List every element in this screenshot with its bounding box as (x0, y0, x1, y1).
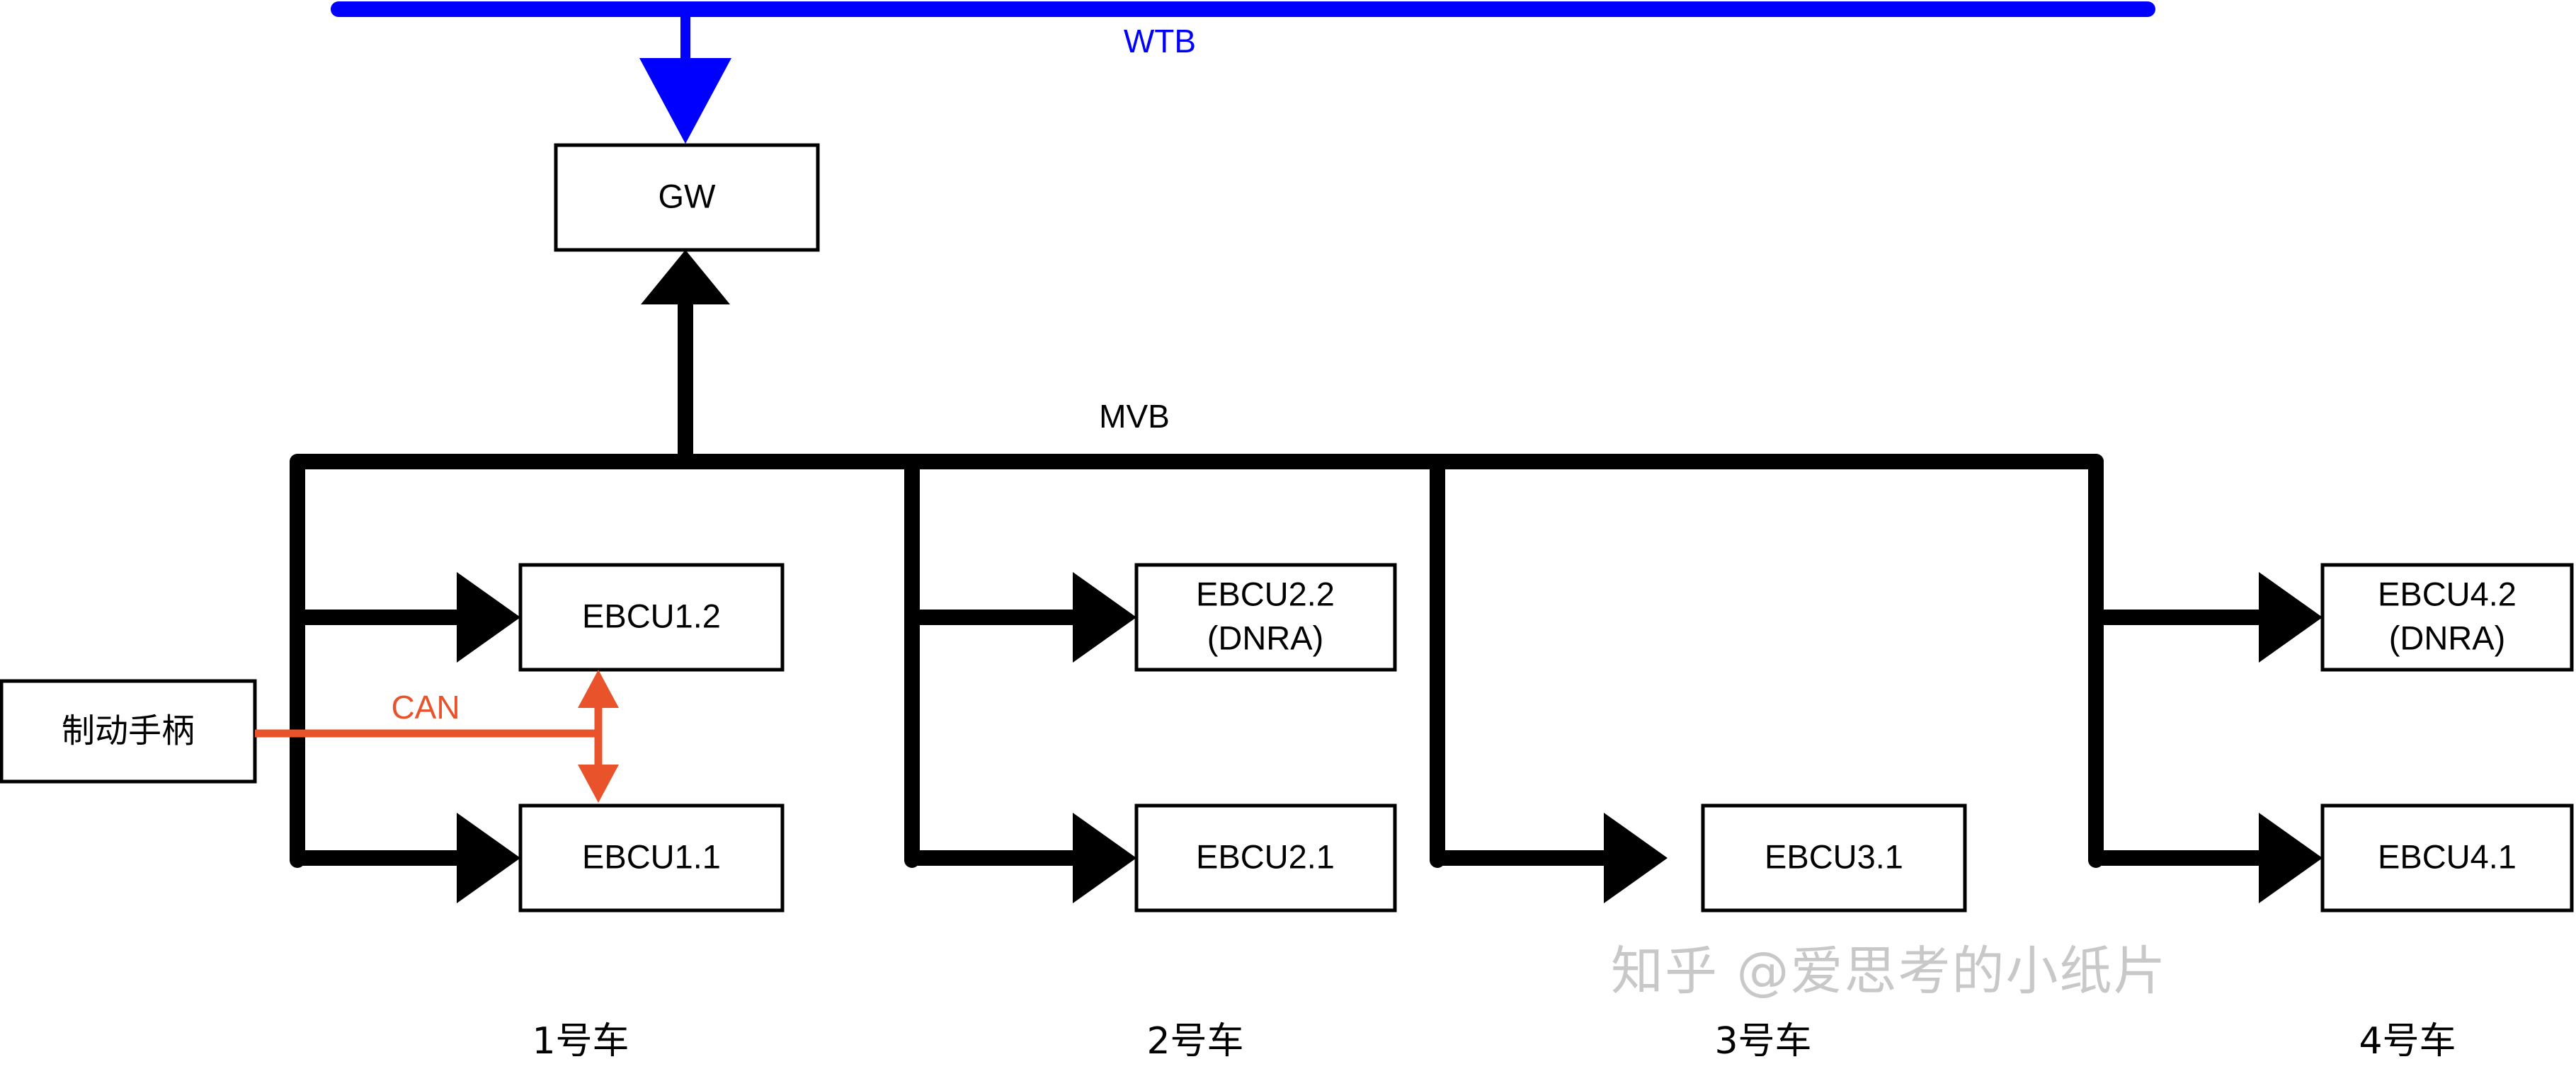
watermark-text: 知乎 @爱思考的小纸片 (1611, 929, 2167, 1005)
node-ebcu2-2-label: EBCU2.2 (1196, 575, 1335, 612)
node-ebcu3-1-label: EBCU3.1 (1765, 837, 1903, 875)
node-ebcu4-2-sublabel: (DNRA) (2389, 619, 2505, 656)
node-ebcu2-1-label: EBCU2.1 (1196, 837, 1335, 875)
arrowhead-ebcu2-2-icon (1073, 572, 1136, 663)
car-label-3: 3号车 (1714, 1020, 1811, 1063)
mvb-bus-segment-car3 (1437, 462, 2096, 860)
arrowhead-ebcu3-1-icon (1604, 813, 1668, 903)
diagram-canvas: WTB GW MVB EBCU1.2 EBCU1.1 制动手柄 (0, 0, 2576, 1081)
node-ebcu2-2-sublabel: (DNRA) (1207, 619, 1323, 656)
network-topology-diagram: WTB GW MVB EBCU1.2 EBCU1.1 制动手柄 (0, 0, 2576, 1081)
node-ebcu1-1-label: EBCU1.1 (582, 837, 721, 875)
wtb-arrowhead-icon (639, 58, 731, 144)
arrowhead-ebcu2-1-icon (1073, 813, 1136, 903)
car-label-2: 2号车 (1146, 1020, 1243, 1063)
node-gw-label: GW (659, 177, 717, 215)
arrowhead-ebcu4-2-icon (2259, 572, 2323, 663)
mvb-bus-label: MVB (1099, 398, 1170, 435)
mvb-to-gw-arrowhead-icon (641, 250, 730, 304)
arrowhead-ebcu4-1-icon (2259, 813, 2323, 903)
can-arrowhead-up-icon (578, 670, 619, 708)
arrowhead-ebcu1-2-icon (457, 572, 520, 663)
node-brake-handle-label: 制动手柄 (62, 712, 195, 751)
node-ebcu1-2-label: EBCU1.2 (582, 597, 721, 634)
can-bus-label: CAN (391, 689, 460, 726)
wtb-bus-label: WTB (1124, 23, 1196, 59)
node-ebcu4-1-label: EBCU4.1 (2378, 837, 2517, 875)
car-label-1: 1号车 (532, 1020, 629, 1063)
car-label-4: 4号车 (2359, 1020, 2456, 1063)
node-ebcu4-2-label: EBCU4.2 (2378, 575, 2517, 612)
arrowhead-ebcu1-1-icon (457, 813, 520, 903)
can-arrowhead-down-icon (578, 765, 619, 803)
